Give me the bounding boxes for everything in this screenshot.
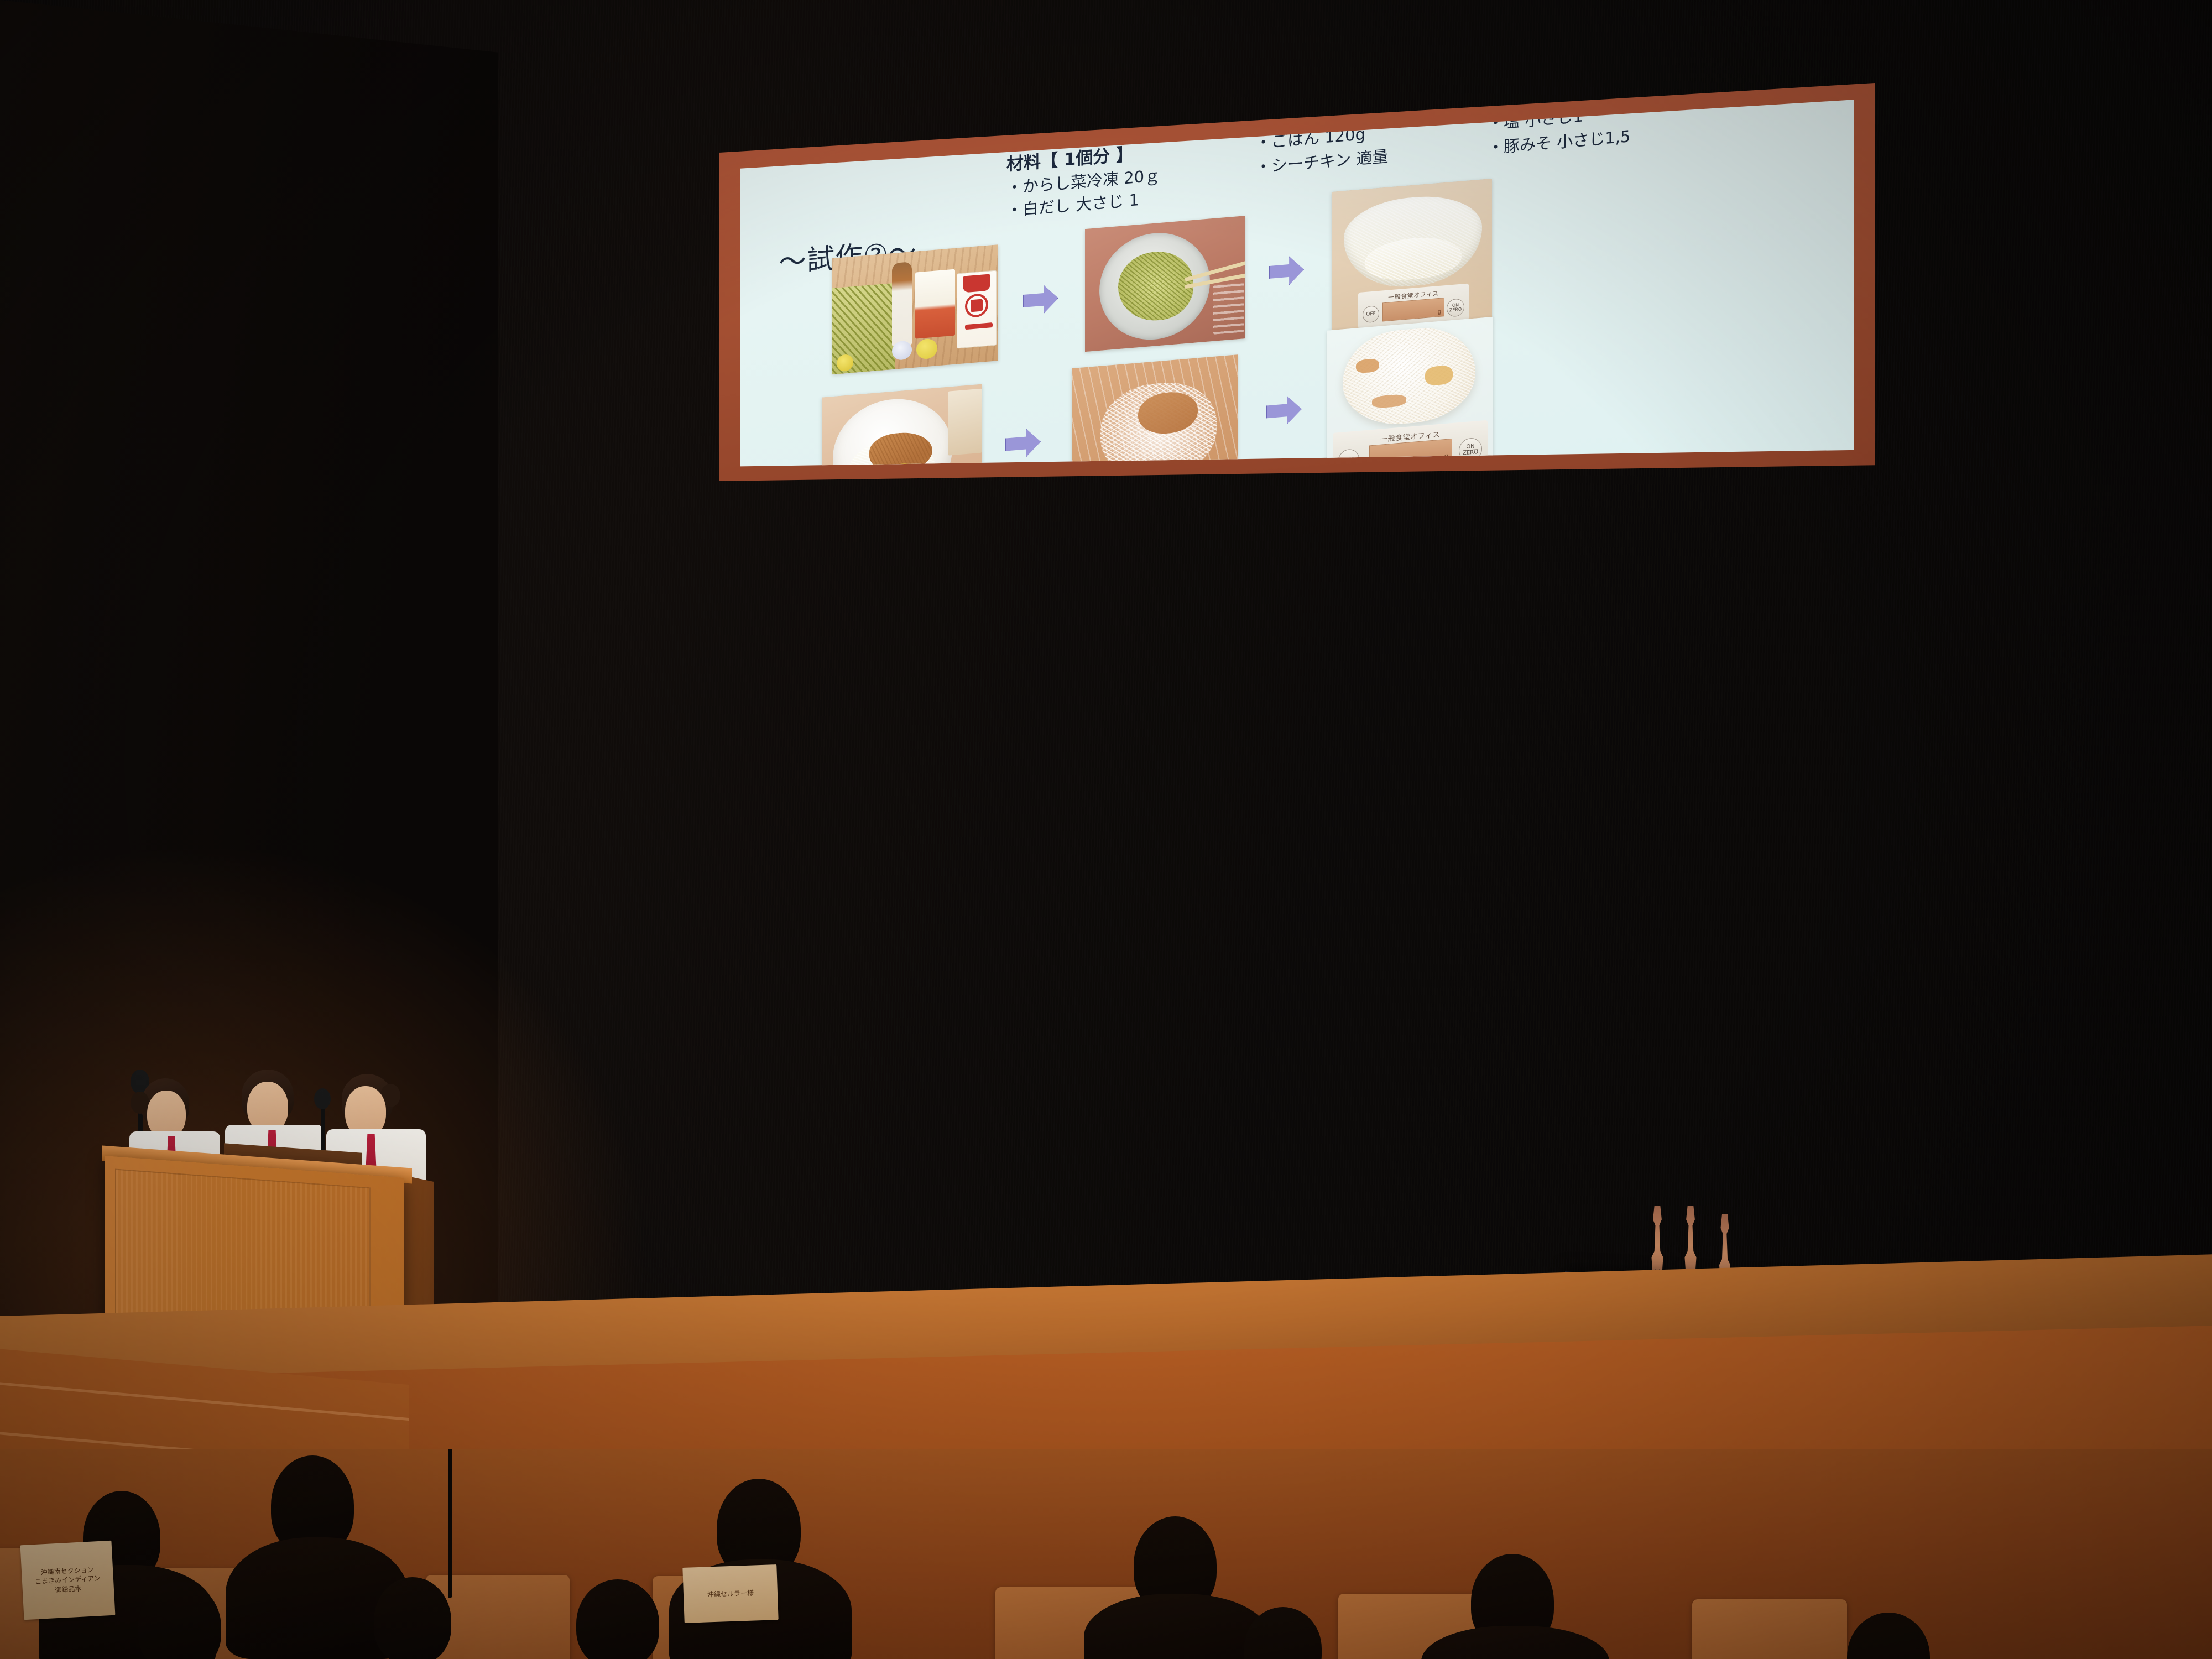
scale-zero-label: ZERO: [1449, 307, 1462, 313]
aisle-microphone-stand: [448, 1449, 452, 1598]
scale-off-button: OFF: [1363, 305, 1379, 323]
audience-seat: [1692, 1599, 1847, 1659]
scale-on-zero-button: ON ZERO: [1447, 298, 1464, 317]
right-arrow-icon: [1266, 395, 1302, 426]
microphone-head-icon: [314, 1088, 331, 1109]
right-arrow-icon: [1005, 427, 1041, 459]
photo-ingredients-on-board: [832, 244, 998, 374]
projection-screen: ～試作②～ 材料【 1個分 】 ・ごはん 120g ・塩 小さじ1: [713, 83, 1875, 481]
audience-seating: 沖縄南セクション こまきみインディアン 御鉛品本 沖縄セルラー様: [0, 1449, 2212, 1659]
scale-zero-label: ZERO: [1463, 449, 1478, 456]
reserved-seat-placard: 沖縄南セクション こまきみインディアン 御鉛品本: [20, 1541, 116, 1620]
photo-greens-in-pan: [1085, 216, 1245, 352]
photo-rice-on-scale: 一般食堂オフィス g OFF ON ZERO: [1332, 179, 1492, 331]
auditorium-scene: ～試作②～ 材料【 1個分 】 ・ごはん 120g ・塩 小さじ1: [0, 0, 2212, 1659]
scale-unit-label: g: [1438, 309, 1441, 316]
reserved-seat-placard: 沖縄セルラー様: [682, 1564, 778, 1623]
right-arrow-icon: [1269, 255, 1304, 286]
right-arrow-icon: [1023, 284, 1058, 315]
audience-head: [374, 1577, 451, 1659]
